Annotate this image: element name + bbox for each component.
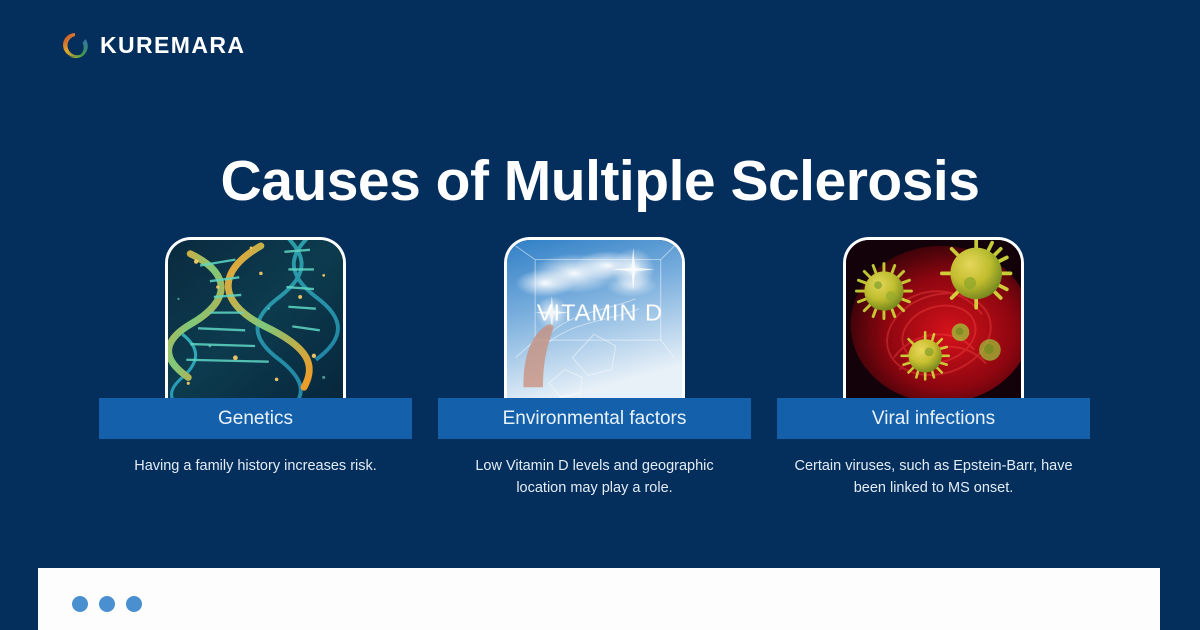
card-label: Viral infections <box>777 398 1090 439</box>
card-label: Genetics <box>99 398 412 439</box>
cause-card[interactable]: Viral infections Certain viruses, such a… <box>777 237 1090 500</box>
dna-double-helix-image <box>165 237 346 399</box>
cause-card[interactable]: VITAMIN D Environmental factors Low Vita… <box>438 237 751 500</box>
cause-card[interactable]: Genetics Having a family history increas… <box>99 237 412 500</box>
card-media-wrap <box>99 237 412 399</box>
virus-particle <box>942 240 1011 308</box>
swirl-icon <box>60 30 90 60</box>
pagination-dots[interactable] <box>72 596 142 612</box>
card-media-wrap <box>777 237 1090 399</box>
svg-text:VITAMIN D: VITAMIN D <box>537 299 663 325</box>
brand-logo[interactable]: KUREMARA <box>60 30 245 60</box>
virus-illustration <box>846 240 1021 399</box>
card-caption: Certain viruses, such as Epstein-Barr, h… <box>777 456 1090 500</box>
pagination-dot[interactable] <box>99 596 115 612</box>
cause-card-list: Genetics Having a family history increas… <box>99 237 1090 500</box>
pagination-dot[interactable] <box>72 596 88 612</box>
bottom-panel <box>38 568 1160 630</box>
virus-particle <box>902 332 949 379</box>
page-title: Causes of Multiple Sclerosis <box>0 150 1200 213</box>
card-caption: Having a family history increases risk. <box>99 456 412 478</box>
vitamin-d-sky-image: VITAMIN D <box>504 237 685 399</box>
card-media-wrap: VITAMIN D <box>438 237 751 399</box>
vitamin-d-illustration: VITAMIN D <box>507 240 682 399</box>
dna-illustration <box>168 240 343 399</box>
virus-particle <box>856 264 911 319</box>
card-label: Environmental factors <box>438 398 751 439</box>
pagination-dot[interactable] <box>126 596 142 612</box>
card-caption: Low Vitamin D levels and geographic loca… <box>438 456 751 500</box>
brand-name: KUREMARA <box>100 34 245 57</box>
virus-particles-image <box>843 237 1024 399</box>
